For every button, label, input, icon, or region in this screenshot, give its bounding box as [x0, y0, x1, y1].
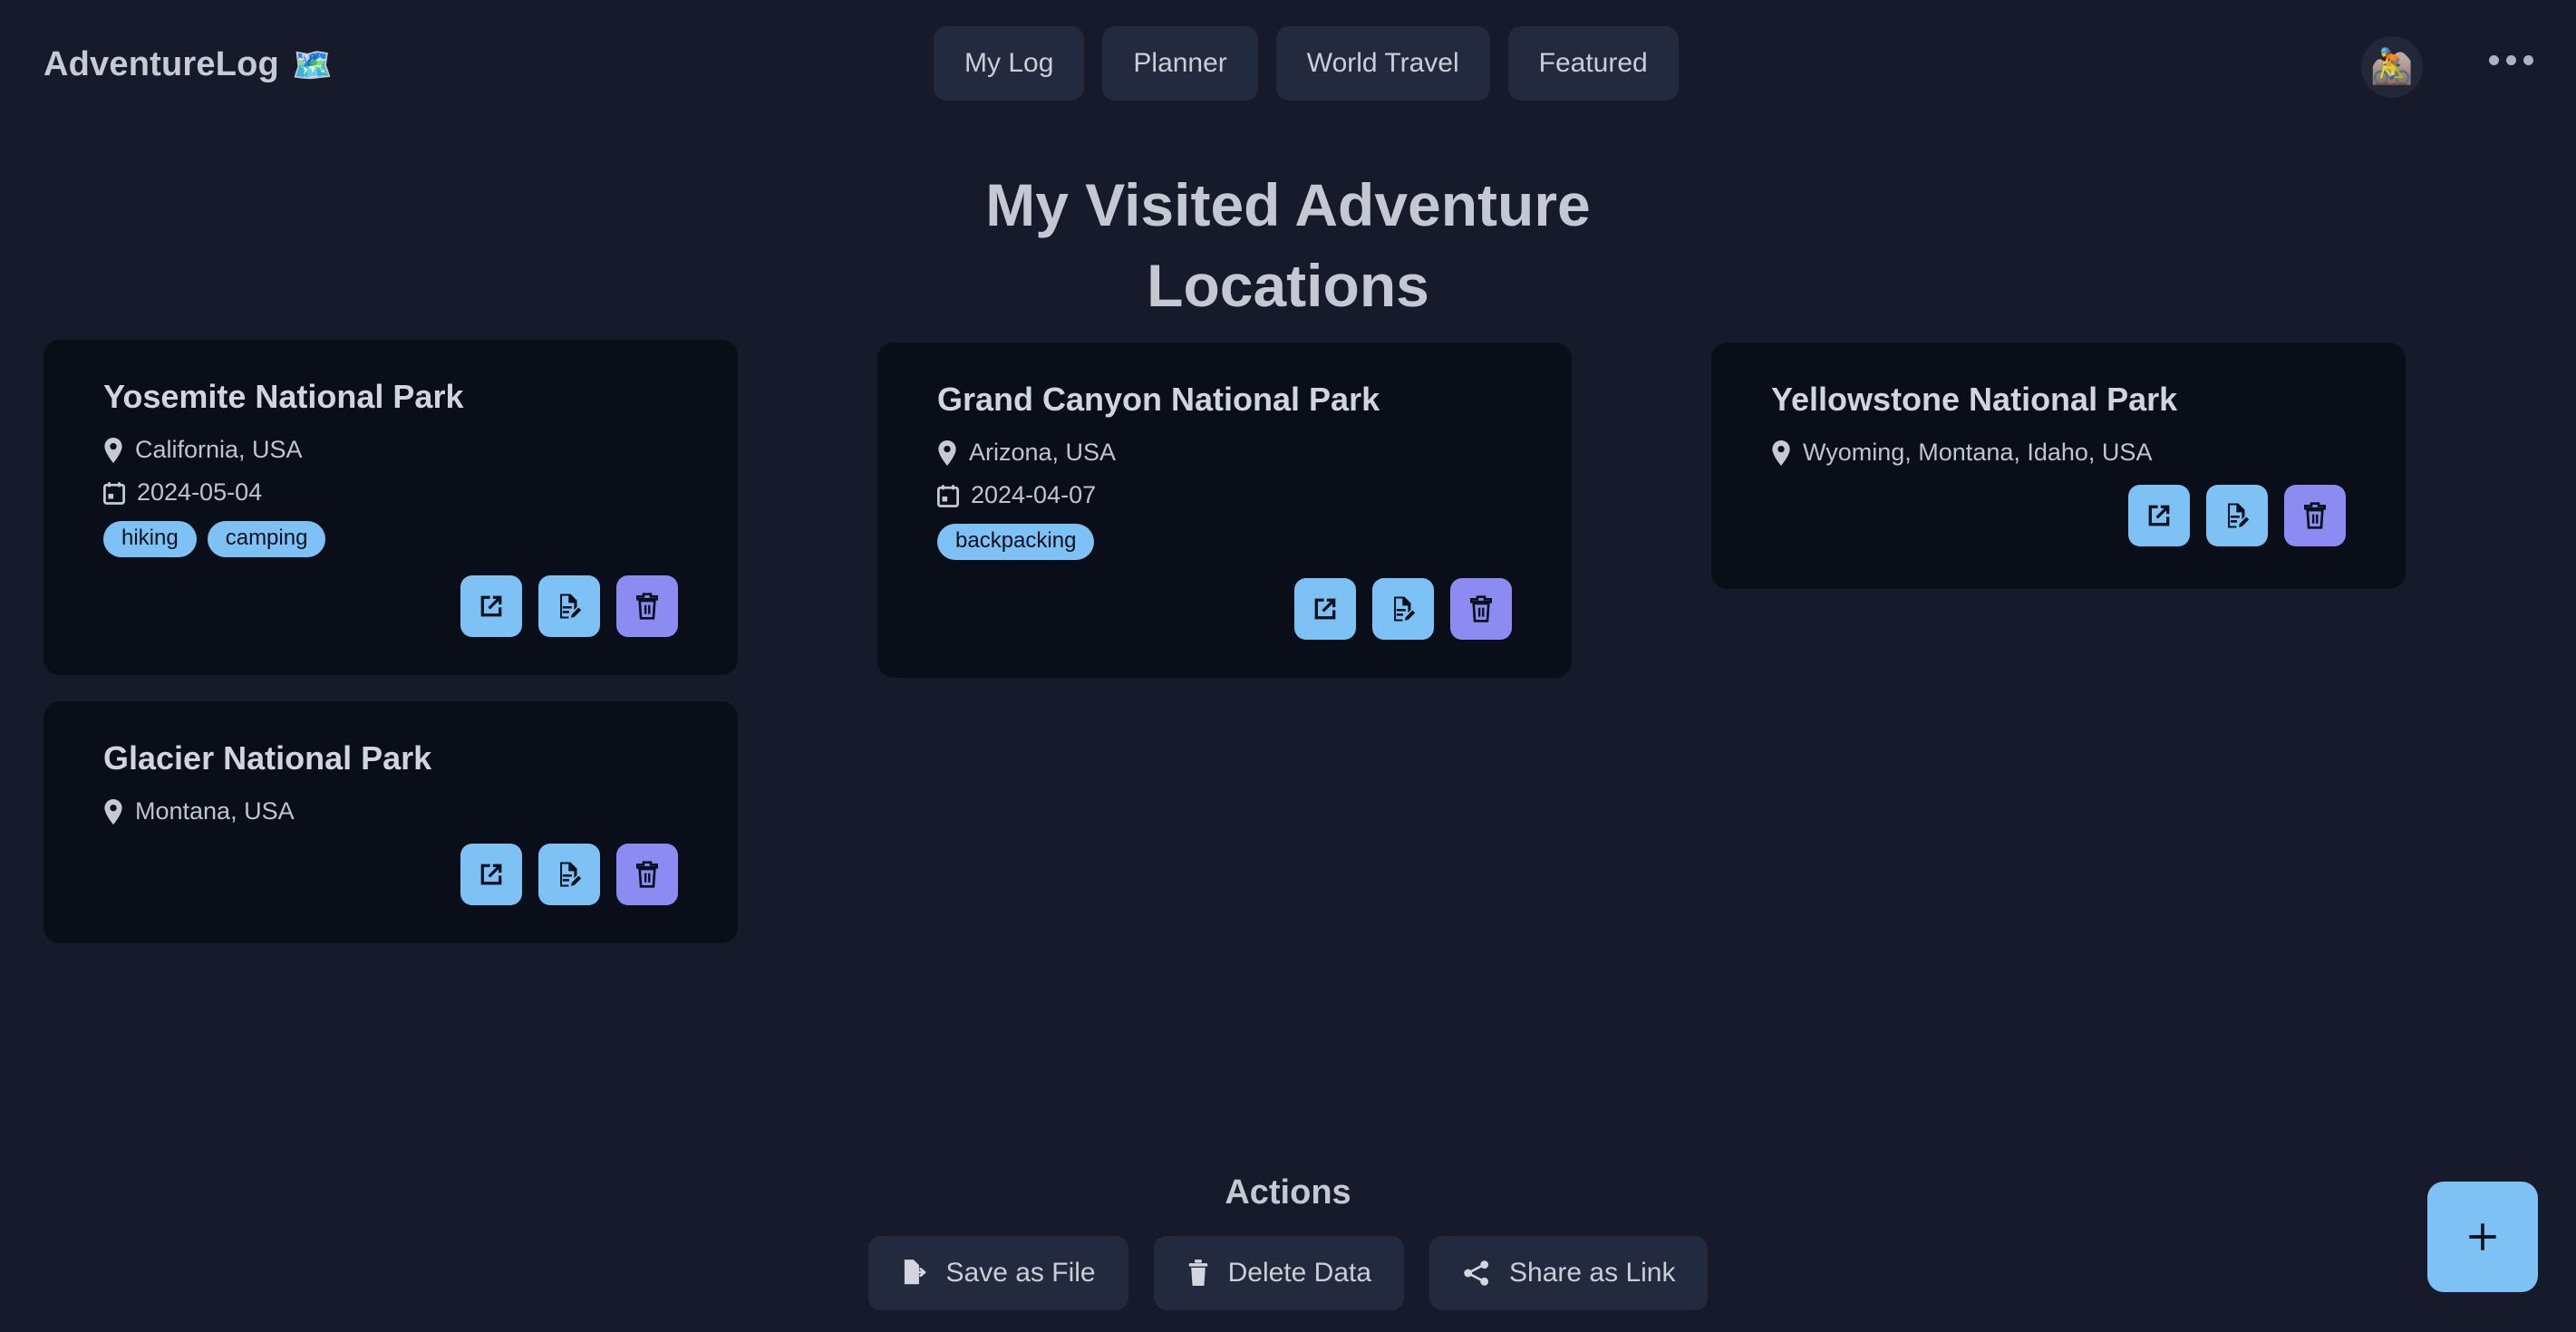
save-as-file-label: Save as File: [946, 1258, 1096, 1289]
save-as-file-button[interactable]: Save as File: [868, 1236, 1128, 1310]
add-adventure-button[interactable]: [2427, 1182, 2538, 1292]
card-date-row: 2024-05-04: [103, 478, 678, 507]
edit-button[interactable]: [2206, 485, 2268, 546]
external-link-icon: [1310, 594, 1341, 624]
trash-icon: [1467, 594, 1496, 623]
card-date-row: 2024-04-07: [937, 481, 1512, 509]
mountain-biker-icon: 🚵: [2370, 47, 2413, 87]
card-date-text: 2024-05-04: [137, 478, 262, 507]
tab-featured[interactable]: Featured: [1508, 26, 1679, 101]
open-external-button[interactable]: [460, 575, 522, 637]
adventure-card[interactable]: Glacier National Park Montana, USA: [44, 701, 738, 943]
actions-button-row: Save as File Delete Data Share as Link: [868, 1236, 1709, 1310]
brand-label: AdventureLog: [44, 45, 279, 84]
delete-data-label: Delete Data: [1228, 1258, 1371, 1289]
location-pin-icon: [103, 799, 123, 825]
card-title: Glacier National Park: [103, 739, 678, 777]
tab-my-log[interactable]: My Log: [934, 26, 1084, 101]
edit-document-icon: [1388, 594, 1419, 624]
card-location-text: California, USA: [135, 436, 303, 464]
calendar-icon: [103, 481, 125, 505]
card-location-text: Montana, USA: [135, 797, 295, 825]
tag-chip[interactable]: hiking: [103, 521, 197, 557]
delete-button[interactable]: [1450, 578, 1512, 640]
external-link-icon: [476, 859, 507, 890]
kebab-dot-icon: [2489, 55, 2499, 65]
tag-chip[interactable]: camping: [208, 521, 326, 557]
card-action-buttons: [103, 575, 678, 637]
trash-icon: [633, 592, 662, 621]
adventure-card-grid: Yosemite National Park California, USA 2…: [44, 340, 2532, 943]
edit-button[interactable]: [538, 575, 600, 637]
card-location-text: Arizona, USA: [969, 439, 1116, 467]
tag-chip[interactable]: backpacking: [937, 524, 1094, 560]
card-date-text: 2024-04-07: [971, 481, 1096, 509]
avatar[interactable]: 🚵: [2361, 36, 2423, 98]
top-navigation-bar: AdventureLog 🗺️ My Log Planner World Tra…: [0, 0, 2576, 134]
page-title: My Visited Adventure Locations: [925, 165, 1651, 326]
tab-world-travel[interactable]: World Travel: [1276, 26, 1490, 101]
share-as-link-button[interactable]: Share as Link: [1429, 1236, 1708, 1310]
delete-button[interactable]: [616, 844, 678, 905]
trash-icon: [2300, 501, 2329, 530]
card-tags: hiking camping: [103, 521, 678, 557]
location-pin-icon: [937, 440, 957, 466]
trash-icon: [633, 860, 662, 889]
external-link-icon: [2144, 500, 2174, 531]
open-external-button[interactable]: [1294, 578, 1356, 640]
kebab-dot-icon: [2506, 55, 2516, 65]
delete-button[interactable]: [2284, 485, 2346, 546]
edit-document-icon: [554, 591, 585, 622]
calendar-icon: [937, 484, 959, 507]
card-location-row: Wyoming, Montana, Idaho, USA: [1771, 439, 2346, 467]
card-location-row: Arizona, USA: [937, 439, 1512, 467]
delete-data-button[interactable]: Delete Data: [1154, 1236, 1404, 1310]
actions-section: Actions Save as File Delete Data: [0, 1173, 2576, 1310]
card-tags: backpacking: [937, 524, 1512, 560]
edit-button[interactable]: [538, 844, 600, 905]
edit-button[interactable]: [1372, 578, 1434, 640]
delete-button[interactable]: [616, 575, 678, 637]
share-icon: [1462, 1259, 1491, 1288]
plus-icon: [2463, 1217, 2503, 1257]
trash-icon: [1186, 1259, 1210, 1288]
external-link-icon: [476, 591, 507, 622]
card-location-row: Montana, USA: [103, 797, 678, 825]
share-as-link-label: Share as Link: [1509, 1258, 1675, 1289]
nav-tabs: My Log Planner World Travel Featured: [934, 26, 1679, 101]
more-options-button[interactable]: [2476, 25, 2545, 94]
open-external-button[interactable]: [2128, 485, 2190, 546]
card-action-buttons: [103, 844, 678, 905]
adventure-card[interactable]: Yellowstone National Park Wyoming, Monta…: [1711, 343, 2406, 589]
location-pin-icon: [1771, 440, 1791, 466]
app-brand[interactable]: AdventureLog 🗺️: [44, 45, 333, 84]
world-map-icon: 🗺️: [292, 49, 333, 82]
card-title: Yellowstone National Park: [1771, 381, 2346, 419]
card-title: Yosemite National Park: [103, 378, 678, 416]
edit-document-icon: [2222, 500, 2252, 531]
kebab-dot-icon: [2523, 55, 2533, 65]
actions-title: Actions: [1225, 1173, 1351, 1212]
edit-document-icon: [554, 859, 585, 890]
file-export-icon: [901, 1259, 928, 1288]
location-pin-icon: [103, 438, 123, 463]
card-action-buttons: [1771, 485, 2346, 546]
adventure-card[interactable]: Grand Canyon National Park Arizona, USA …: [877, 343, 1572, 678]
card-title: Grand Canyon National Park: [937, 381, 1512, 419]
card-location-text: Wyoming, Montana, Idaho, USA: [1803, 439, 2152, 467]
open-external-button[interactable]: [460, 844, 522, 905]
card-location-row: California, USA: [103, 436, 678, 464]
adventure-card[interactable]: Yosemite National Park California, USA 2…: [44, 340, 738, 675]
card-action-buttons: [937, 578, 1512, 640]
tab-planner[interactable]: Planner: [1102, 26, 1257, 101]
